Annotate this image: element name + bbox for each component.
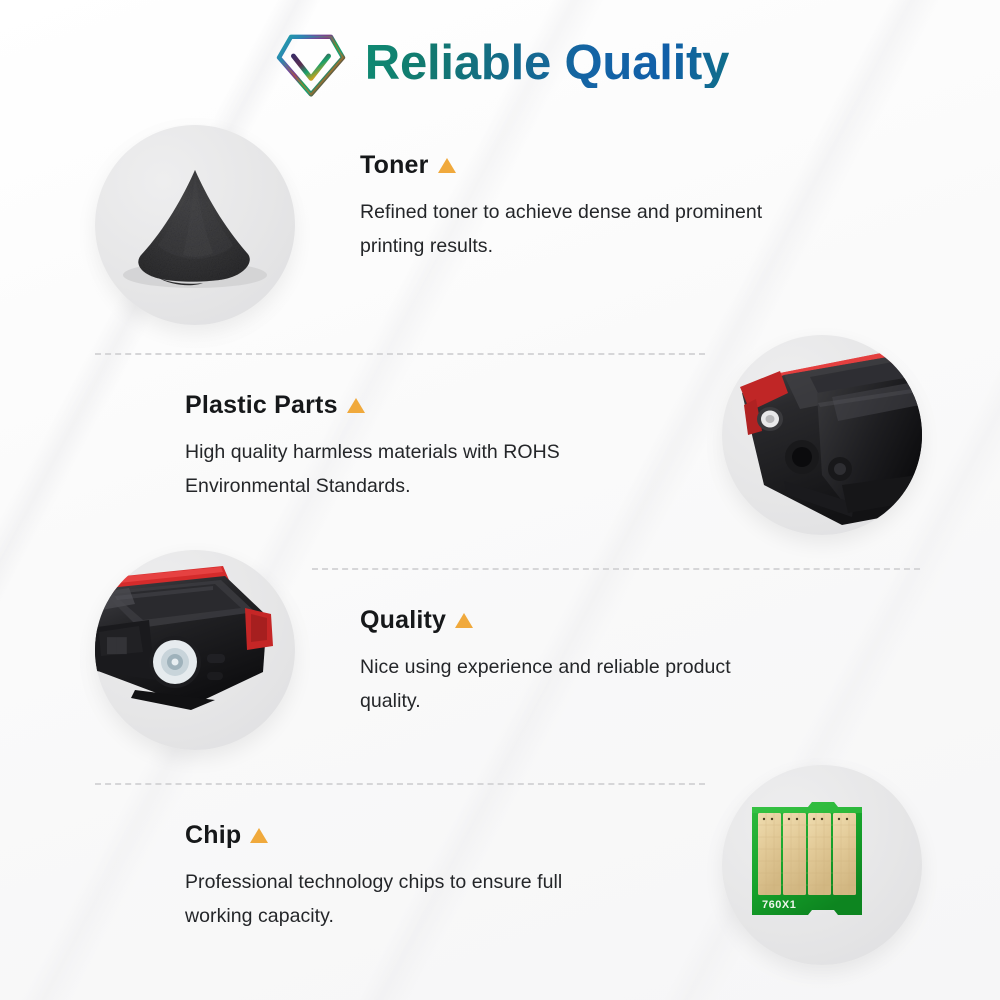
toner-cartridge-gear-photo: ██ [95, 550, 295, 750]
feature-row-plastic-parts: Plastic Parts High quality harmless mate… [0, 335, 1000, 550]
toner-chip-photo: 760X1 [722, 765, 922, 965]
feature-title: Chip [185, 823, 241, 848]
feature-heading-plastic-parts: Plastic Parts [185, 393, 605, 418]
feature-description: Professional technology chips to ensure … [185, 866, 605, 933]
orange-triangle-icon [250, 828, 268, 843]
reliable-quality-banner: Reliable Quality [0, 0, 1000, 1000]
feature-description: Nice using experience and reliable produ… [360, 651, 780, 718]
toner-cartridge-plastic-photo [722, 335, 922, 535]
feature-text-toner: Toner Refined toner to achieve dense and… [360, 153, 780, 263]
feature-heading-chip: Chip [185, 823, 605, 848]
feature-heading-toner: Toner [360, 153, 780, 178]
feature-text-plastic-parts: Plastic Parts High quality harmless mate… [185, 393, 605, 503]
orange-triangle-icon [347, 398, 365, 413]
toner-powder-photo [95, 125, 295, 325]
feature-description: High quality harmless materials with ROH… [185, 436, 605, 503]
orange-triangle-icon [438, 158, 456, 173]
feature-text-quality: Quality Nice using experience and reliab… [360, 608, 780, 718]
feature-description: Refined toner to achieve dense and promi… [360, 196, 780, 263]
feature-text-chip: Chip Professional technology chips to en… [185, 823, 605, 933]
chip-silkscreen-label: 760X1 [762, 899, 796, 911]
feature-title: Toner [360, 153, 429, 178]
orange-triangle-icon [455, 613, 473, 628]
feature-row-quality: ██ [0, 550, 1000, 765]
feature-row-toner: Toner Refined toner to achieve dense and… [0, 125, 1000, 330]
feature-title: Quality [360, 608, 446, 633]
page-title: Reliable Quality [365, 39, 729, 88]
feature-row-chip: 760X1 Chip Professional technology chips… [0, 765, 1000, 980]
pentagon-check-logo-icon [271, 24, 351, 104]
page-header: Reliable Quality [0, 16, 1000, 111]
feature-heading-quality: Quality [360, 608, 780, 633]
svg-text:██: ██ [107, 637, 127, 655]
feature-title: Plastic Parts [185, 393, 338, 418]
